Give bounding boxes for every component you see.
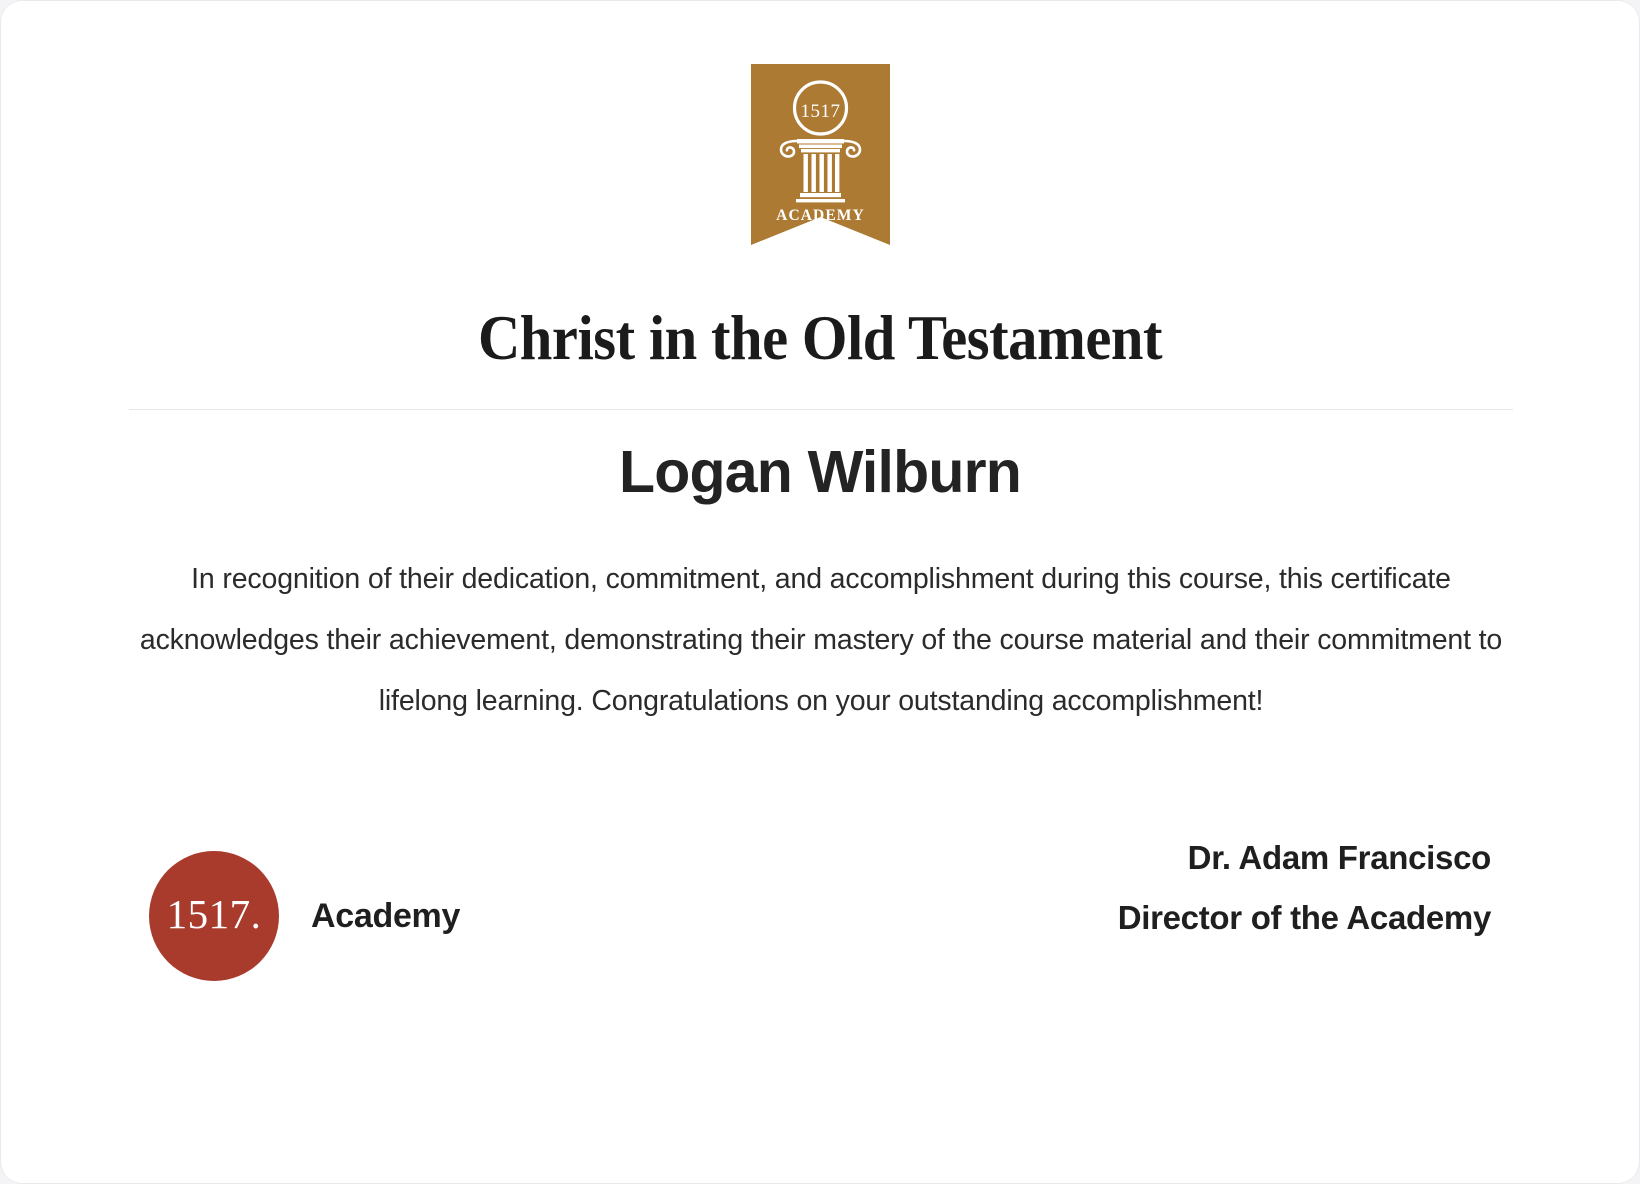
certificate-footer: 1517. Academy Dr. Adam Francisco Directo… (1, 839, 1639, 999)
signatory-name: Dr. Adam Francisco (1118, 841, 1491, 874)
svg-text:ACADEMY: ACADEMY (776, 207, 865, 224)
signatory-role: Director of the Academy (1118, 901, 1491, 934)
organization-seal-block: 1517. Academy (149, 851, 460, 981)
page-title: Christ in the Old Testament (58, 303, 1581, 374)
organization-name: Academy (311, 897, 460, 936)
seal-label: 1517. (167, 894, 262, 938)
logo-banner-container: 1517 ACADEMY (1, 64, 1639, 245)
recognition-paragraph: In recognition of their dedication, comm… (119, 549, 1523, 732)
recipient-name: Logan Wilburn (1, 438, 1639, 506)
divider (129, 409, 1513, 410)
signature-block: Dr. Adam Francisco Director of the Acade… (1118, 841, 1491, 934)
seal-1517-icon: 1517. (149, 851, 279, 981)
banner-svg: 1517 ACADEMY (751, 64, 890, 245)
academy-banner-icon: 1517 ACADEMY (751, 64, 890, 245)
svg-text:1517: 1517 (800, 101, 840, 122)
certificate-card: 1517 ACADEMY Christ in (0, 0, 1640, 1184)
